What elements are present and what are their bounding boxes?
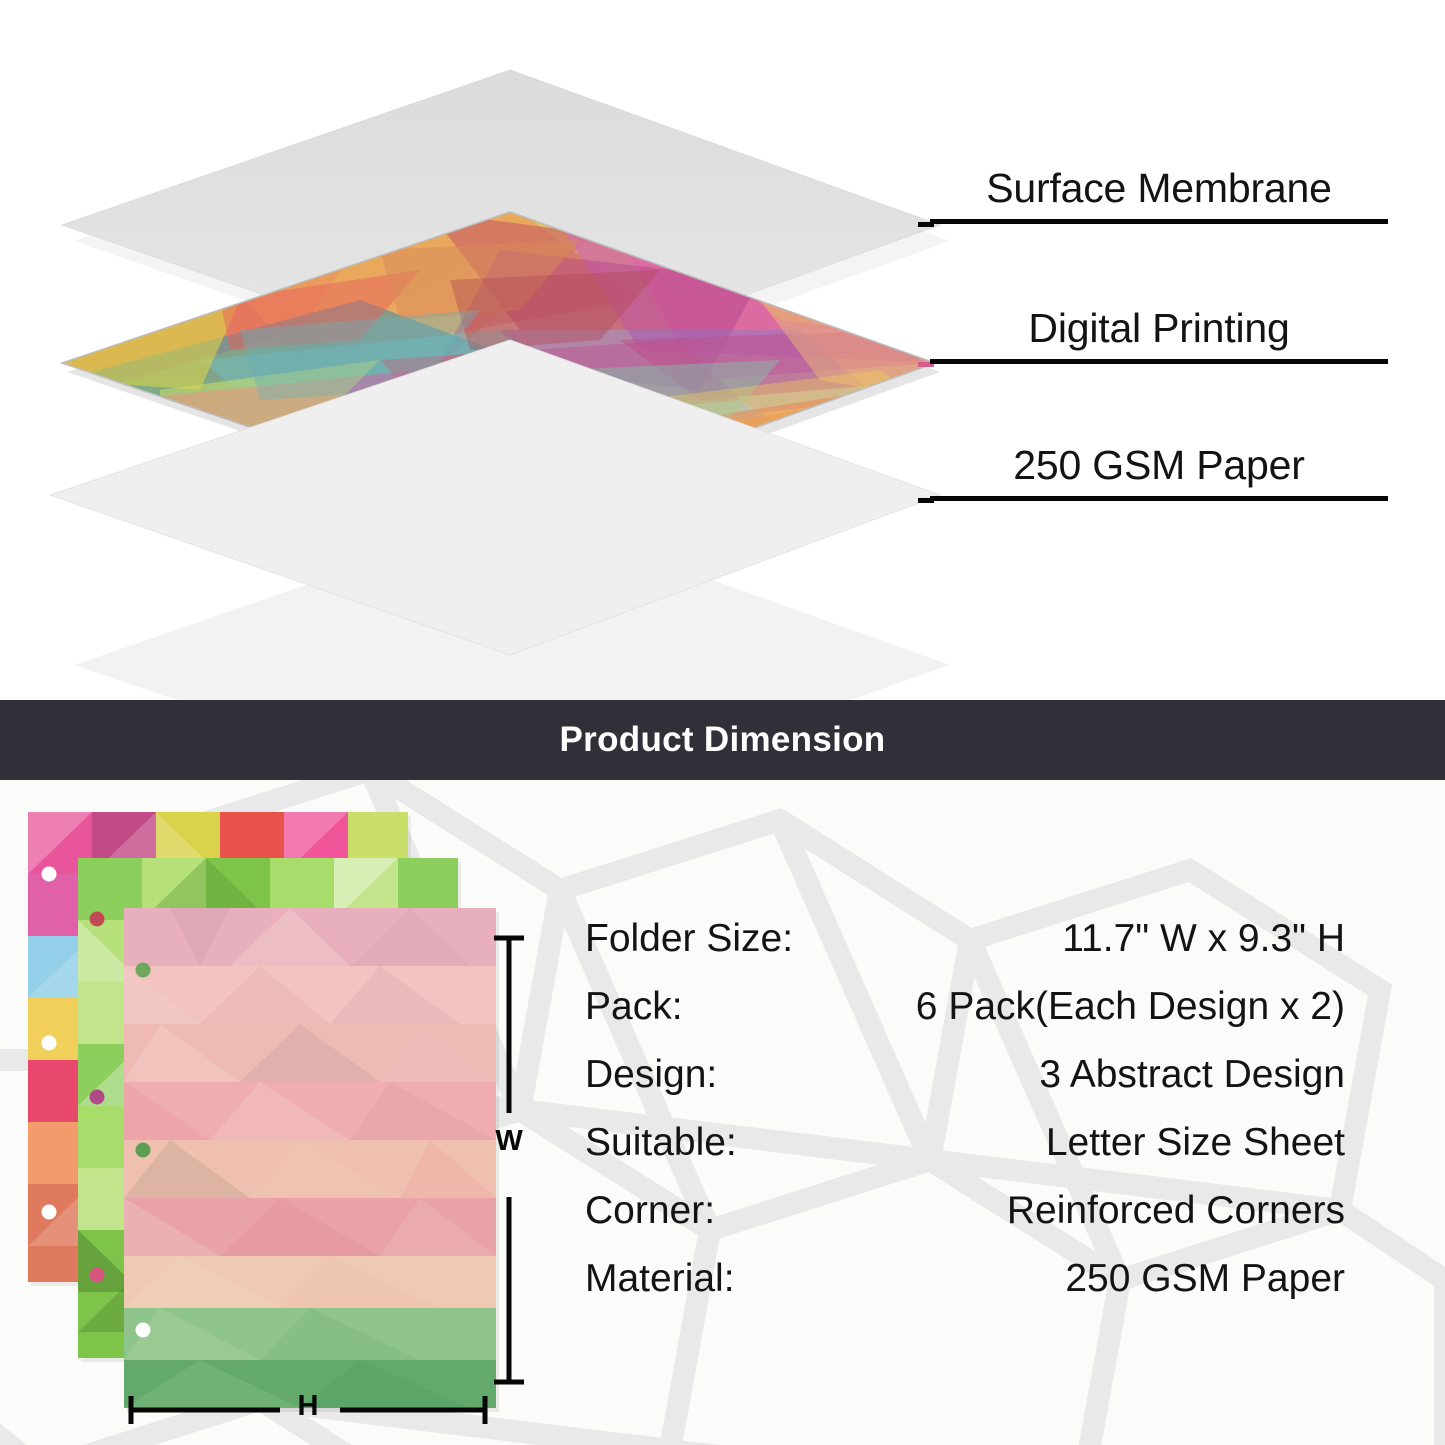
spec-label-suitable: Suitable:	[585, 1109, 737, 1177]
product-dimension-section: W H Folder Size: 11.7" W x 9.3" H Pack: …	[0, 780, 1445, 1445]
hole-punch	[136, 1323, 151, 1338]
callout-label-digital-printing: Digital Printing	[930, 308, 1388, 349]
hole-punch	[42, 1205, 57, 1220]
spec-value-suitable: Letter Size Sheet	[1046, 1109, 1345, 1177]
spec-value-design: 3 Abstract Design	[1039, 1041, 1345, 1109]
spec-label-pack: Pack:	[585, 973, 683, 1041]
hole-punch	[90, 1268, 105, 1283]
product-dimension-header-bar: Product Dimension	[0, 700, 1445, 780]
spec-label-folder-size: Folder Size:	[585, 905, 793, 973]
hole-punch	[90, 1090, 105, 1105]
hole-punch	[90, 912, 105, 927]
callout-rule-digital-printing	[930, 359, 1388, 364]
spec-row-folder-size: Folder Size: 11.7" W x 9.3" H	[585, 905, 1345, 973]
hole-punch	[136, 1143, 151, 1158]
layer-stage-svg	[0, 0, 980, 700]
folder-stack	[0, 780, 520, 1445]
hole-punch	[136, 963, 151, 978]
spec-label-design: Design:	[585, 1041, 717, 1109]
spec-row-material: Material: 250 GSM Paper	[585, 1245, 1345, 1313]
callout-surface-membrane: Surface Membrane	[930, 168, 1388, 224]
product-dimension-title: Product Dimension	[560, 720, 886, 760]
dimension-label-height: H	[284, 1392, 332, 1421]
callout-rule-250-gsm-paper	[930, 496, 1388, 501]
hole-punch	[42, 1036, 57, 1051]
callout-rule-surface-membrane	[930, 219, 1388, 224]
spec-value-folder-size: 11.7" W x 9.3" H	[1062, 905, 1345, 973]
spec-row-pack: Pack: 6 Pack(Each Design x 2)	[585, 973, 1345, 1041]
callout-digital-printing: Digital Printing	[930, 308, 1388, 364]
spec-value-pack: 6 Pack(Each Design x 2)	[916, 973, 1345, 1041]
folder-pink-green	[124, 908, 499, 1412]
callout-label-surface-membrane: Surface Membrane	[930, 168, 1388, 209]
spec-value-material: 250 GSM Paper	[1065, 1245, 1345, 1313]
product-spec-list: Folder Size: 11.7" W x 9.3" H Pack: 6 Pa…	[585, 905, 1345, 1313]
dimension-marker-width-svg	[492, 935, 526, 1385]
spec-row-design: Design: 3 Abstract Design	[585, 1041, 1345, 1109]
spec-label-material: Material:	[585, 1245, 735, 1313]
callout-250-gsm-paper: 250 GSM Paper	[930, 445, 1388, 501]
spec-value-corner: Reinforced Corners	[1007, 1177, 1345, 1245]
product-infographic: Surface Membrane Digital Printing 250 GS…	[0, 0, 1445, 1445]
callout-label-250-gsm-paper: 250 GSM Paper	[930, 445, 1388, 486]
dimension-marker-height: H	[128, 1392, 488, 1428]
dimension-label-width: W	[492, 1127, 526, 1156]
layer-stage	[0, 0, 980, 700]
spec-label-corner: Corner:	[585, 1177, 715, 1245]
spec-row-corner: Corner: Reinforced Corners	[585, 1177, 1345, 1245]
exploded-layer-diagram-section: Surface Membrane Digital Printing 250 GS…	[0, 0, 1445, 700]
dimension-marker-width: W	[492, 935, 526, 1385]
spec-row-suitable: Suitable: Letter Size Sheet	[585, 1109, 1345, 1177]
hole-punch	[42, 867, 57, 882]
